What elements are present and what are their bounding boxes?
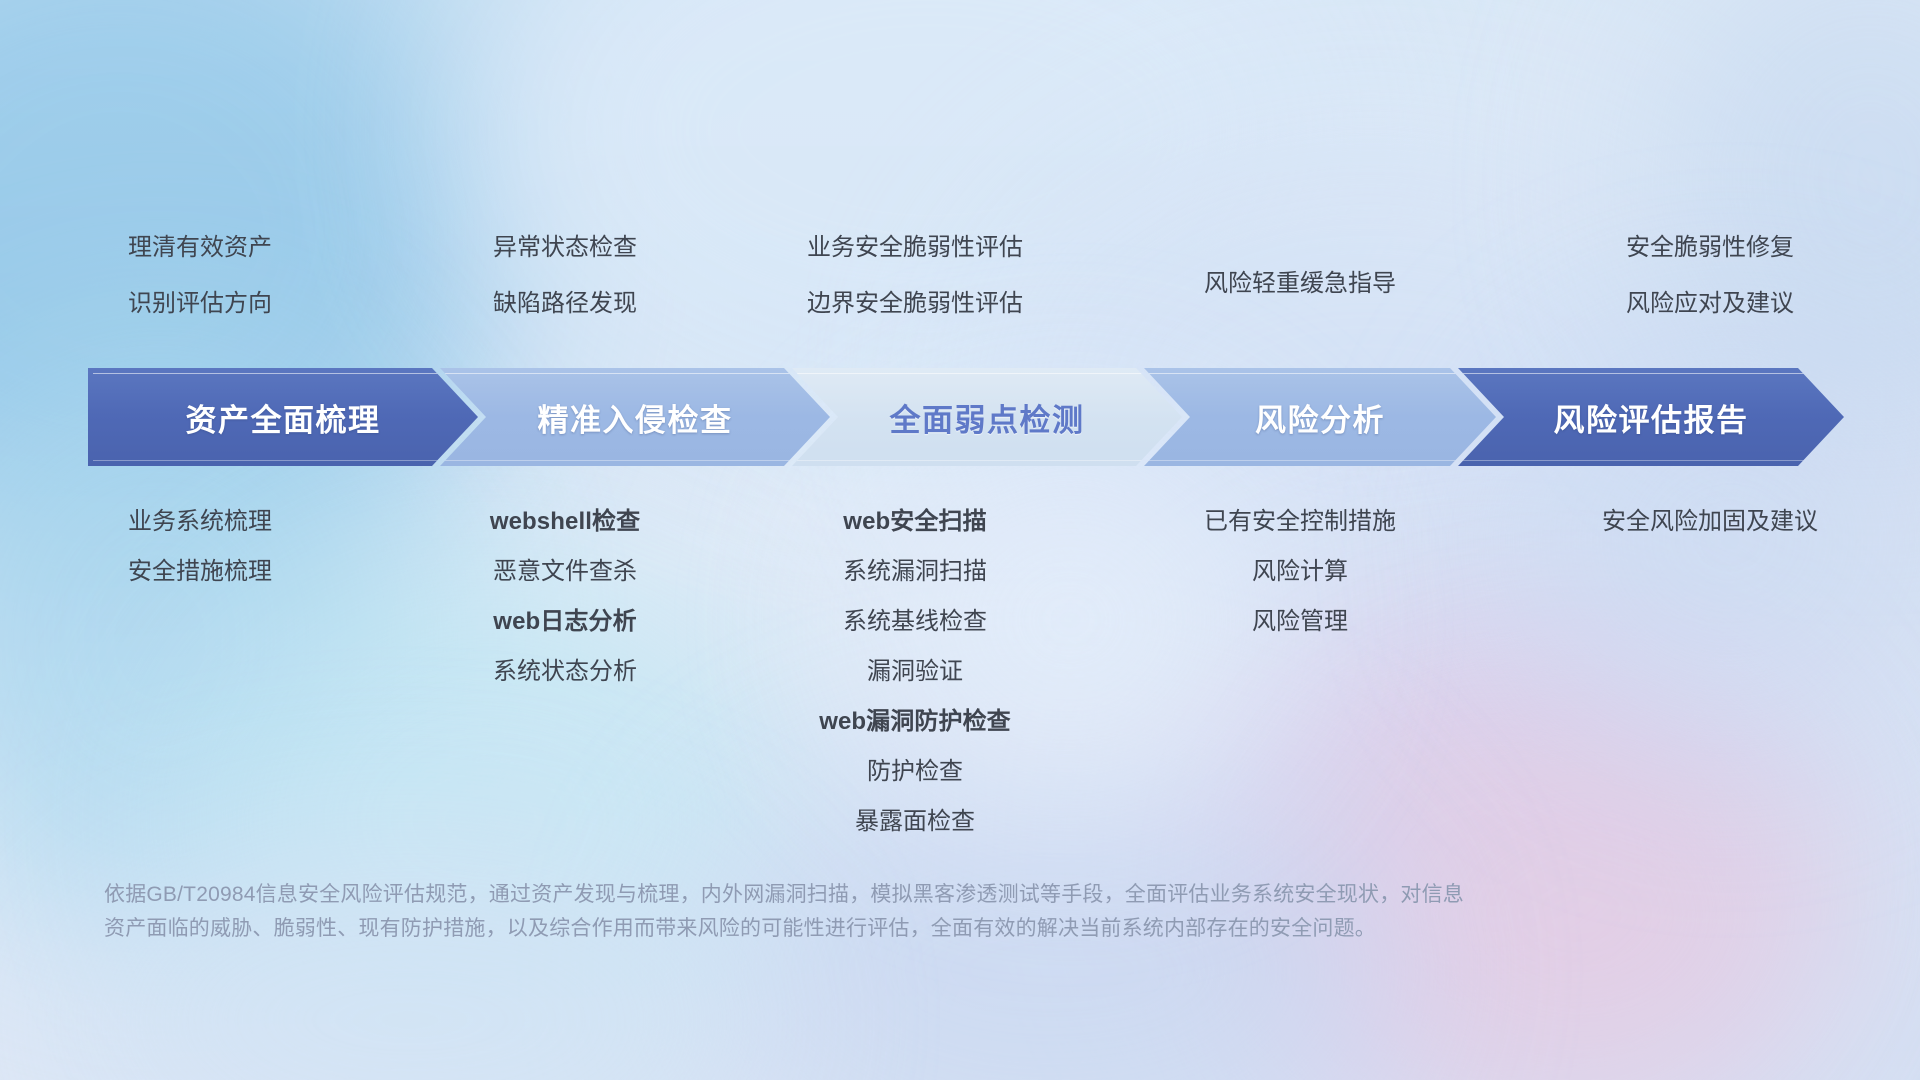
stage-outputs-intrusion-check: 异常状态检查 缺陷路径发现: [400, 236, 730, 348]
stage-activity-item: 系统漏洞扫描: [843, 560, 987, 584]
stage-activities-asset-inventory: 业务系统梳理 安全措施梳理: [0, 510, 400, 860]
stage-output-item: 安全脆弱性修复: [1626, 236, 1794, 260]
stage-output-item: 风险轻重缓急指导: [1204, 272, 1396, 296]
stage-activity-item: web漏洞防护检查: [819, 710, 1011, 734]
chevron-label: 资产全面梳理: [186, 395, 381, 440]
stage-output-item: 理清有效资产: [128, 236, 272, 260]
stage-outputs-asset-inventory: 理清有效资产 识别评估方向: [0, 236, 400, 348]
stage-output-item: 风险应对及建议: [1626, 292, 1794, 316]
chevron-label: 风险分析: [1255, 395, 1385, 440]
stage-activity-item: 恶意文件查杀: [493, 560, 637, 584]
description-line-2: 资产面临的威胁、脆弱性、现有防护措施，以及综合作用而带来风险的可能性进行评估，全…: [104, 912, 1624, 946]
stage-outputs-risk-analysis: 风险轻重缓急指导: [1100, 236, 1500, 348]
description-line-1: 依据GB/T20984信息安全风险评估规范，通过资产发现与梳理，内外网漏洞扫描，…: [104, 878, 1624, 912]
stage-activity-item: 系统状态分析: [493, 660, 637, 684]
stage-activities-weakness-detection: web安全扫描 系统漏洞扫描 系统基线检查 漏洞验证 web漏洞防护检查 防护检…: [730, 510, 1100, 860]
stage-output-item: 异常状态检查: [493, 236, 637, 260]
chevron-label: 全面弱点检测: [890, 395, 1085, 440]
stage-output-item: 识别评估方向: [128, 292, 272, 316]
stage-output-item: 业务安全脆弱性评估: [807, 236, 1023, 260]
stage-activity-item: 安全风险加固及建议: [1602, 510, 1818, 534]
stage-outputs-row: 理清有效资产 识别评估方向 异常状态检查 缺陷路径发现 业务安全脆弱性评估 边界…: [0, 236, 1920, 348]
stage-outputs-weakness-detection: 业务安全脆弱性评估 边界安全脆弱性评估: [730, 236, 1100, 348]
stage-activities-risk-report: 安全风险加固及建议: [1500, 510, 1920, 860]
stage-activity-item: 安全措施梳理: [128, 560, 272, 584]
process-chevron-ribbon: 资产全面梳理 精准入侵检查 全面弱点检测 风险分析 风险评估报告: [88, 368, 1844, 466]
chevron-stage-risk-report[interactable]: 风险评估报告: [1458, 368, 1844, 466]
stage-activity-item: 暴露面检查: [855, 810, 975, 834]
slide-canvas: 理清有效资产 识别评估方向 异常状态检查 缺陷路径发现 业务安全脆弱性评估 边界…: [0, 0, 1920, 1080]
description-paragraph: 依据GB/T20984信息安全风险评估规范，通过资产发现与梳理，内外网漏洞扫描，…: [104, 878, 1624, 946]
stage-activity-item: 漏洞验证: [867, 660, 963, 684]
chevron-label: 精准入侵检查: [538, 395, 733, 440]
stage-output-item: 边界安全脆弱性评估: [807, 292, 1023, 316]
chevron-stage-weakness-detection[interactable]: 全面弱点检测: [792, 368, 1182, 466]
chevron-stage-asset-inventory[interactable]: 资产全面梳理: [88, 368, 478, 466]
stage-activity-item: 已有安全控制措施: [1204, 510, 1396, 534]
stage-activity-item: webshell检查: [490, 510, 640, 534]
stage-activity-item: 风险管理: [1252, 610, 1348, 634]
stage-activity-item: 系统基线检查: [843, 610, 987, 634]
stage-activities-risk-analysis: 已有安全控制措施 风险计算 风险管理: [1100, 510, 1500, 860]
chevron-stage-risk-analysis[interactable]: 风险分析: [1144, 368, 1496, 466]
stage-activities-row: 业务系统梳理 安全措施梳理 webshell检查 恶意文件查杀 web日志分析 …: [0, 510, 1920, 860]
stage-activity-item: 防护检查: [867, 760, 963, 784]
chevron-stage-intrusion-check[interactable]: 精准入侵检查: [440, 368, 830, 466]
stage-activities-intrusion-check: webshell检查 恶意文件查杀 web日志分析 系统状态分析: [400, 510, 730, 860]
stage-activity-item: 业务系统梳理: [128, 510, 272, 534]
chevron-label: 风险评估报告: [1554, 395, 1749, 440]
stage-output-item: 缺陷路径发现: [493, 292, 637, 316]
stage-activity-item: web安全扫描: [843, 510, 986, 534]
stage-activity-item: 风险计算: [1252, 560, 1348, 584]
stage-activity-item: web日志分析: [493, 610, 636, 634]
stage-outputs-risk-report: 安全脆弱性修复 风险应对及建议: [1500, 236, 1920, 348]
